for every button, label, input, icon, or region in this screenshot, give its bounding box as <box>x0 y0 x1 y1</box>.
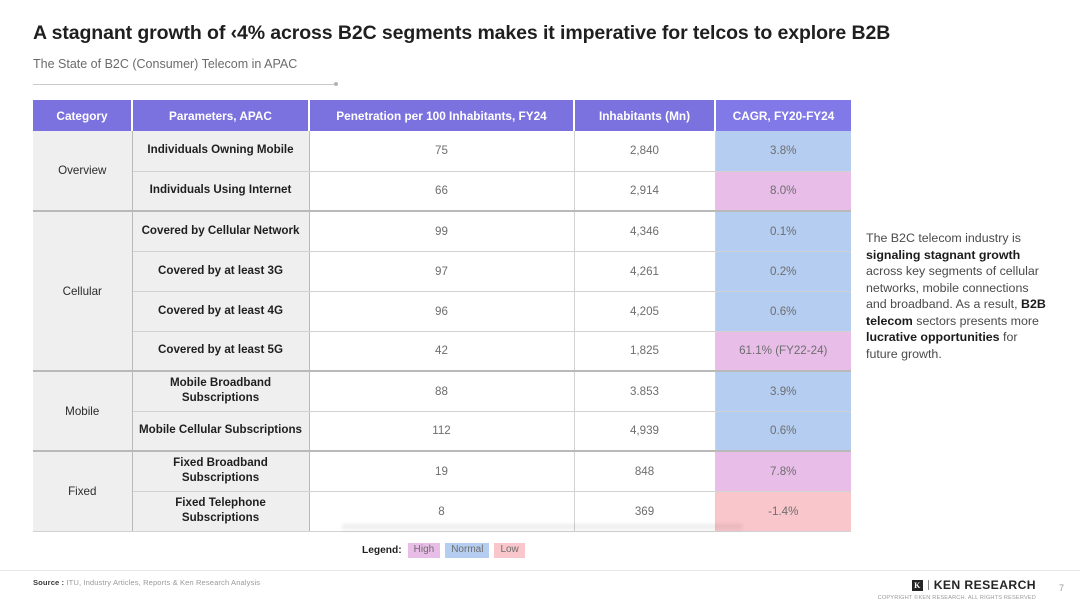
column-header-parameters: Parameters, APAC <box>132 100 309 131</box>
legend-label: Legend: <box>362 545 402 556</box>
category-cell-mobile: Mobile <box>33 371 132 451</box>
table-row: OverviewIndividuals Owning Mobile752,840… <box>33 131 851 171</box>
parameter-cell: Covered by at least 3G <box>132 251 309 291</box>
brand-divider <box>928 580 929 590</box>
brand-lockup: K KEN RESEARCH <box>878 578 1036 592</box>
category-cell-overview: Overview <box>33 131 132 211</box>
data-table-container: Category Parameters, APAC Penetration pe… <box>33 100 851 532</box>
parameter-cell: Covered by at least 5G <box>132 331 309 371</box>
table-row: CellularCovered by Cellular Network994,3… <box>33 211 851 251</box>
inhabitants-cell: 4,346 <box>574 211 715 251</box>
penetration-cell: 97 <box>309 251 574 291</box>
slide-header: A stagnant growth of ‹4% across B2C segm… <box>33 22 1047 71</box>
inhabitants-cell: 848 <box>574 451 715 491</box>
column-header-penetration: Penetration per 100 Inhabitants, FY24 <box>309 100 574 131</box>
table-header-row: Category Parameters, APAC Penetration pe… <box>33 100 851 131</box>
table-row: Covered by at least 4G964,2050.6% <box>33 291 851 331</box>
insight-text: The B2C telecom industry is <box>866 231 1021 245</box>
cagr-cell: 8.0% <box>715 171 851 211</box>
table-drop-shadow <box>342 524 742 533</box>
copyright-text: COPYRIGHT ©KEN RESEARCH. ALL RIGHTS RESE… <box>878 595 1036 601</box>
parameter-cell: Individuals Owning Mobile <box>132 131 309 171</box>
page-title: A stagnant growth of ‹4% across B2C segm… <box>33 22 1047 45</box>
cagr-cell: 61.1% (FY22-24) <box>715 331 851 371</box>
parameter-cell: Mobile Broadband Subscriptions <box>132 371 309 411</box>
cagr-cell: 0.6% <box>715 291 851 331</box>
cagr-cell: 0.2% <box>715 251 851 291</box>
table-row: FixedFixed Broadband Subscriptions198487… <box>33 451 851 491</box>
inhabitants-cell: 4,261 <box>574 251 715 291</box>
penetration-cell: 42 <box>309 331 574 371</box>
cagr-cell: 0.6% <box>715 411 851 451</box>
legend-item-normal: Normal <box>445 543 489 558</box>
legend-item-high: High <box>408 543 441 558</box>
penetration-cell: 66 <box>309 171 574 211</box>
parameter-cell: Fixed Telephone Subscriptions <box>132 491 309 531</box>
source-text: ITU, Industry Articles, Reports & Ken Re… <box>66 578 260 587</box>
insight-text: across key segments of cellular networks… <box>866 264 1039 311</box>
legend-item-low: Low <box>494 543 524 558</box>
brand-block: K KEN RESEARCH COPYRIGHT ©KEN RESEARCH. … <box>878 578 1036 601</box>
table-row: Individuals Using Internet662,9148.0% <box>33 171 851 211</box>
penetration-cell: 112 <box>309 411 574 451</box>
penetration-cell: 75 <box>309 131 574 171</box>
insight-emphasis: lucrative opportunities <box>866 330 1000 344</box>
penetration-cell: 96 <box>309 291 574 331</box>
penetration-cell: 99 <box>309 211 574 251</box>
table-row: Mobile Cellular Subscriptions1124,9390.6… <box>33 411 851 451</box>
telecom-metrics-table: Category Parameters, APAC Penetration pe… <box>33 100 851 532</box>
table-row: Covered by at least 3G974,2610.2% <box>33 251 851 291</box>
source-citation: Source : ITU, Industry Articles, Reports… <box>33 578 260 587</box>
inhabitants-cell: 1,825 <box>574 331 715 371</box>
column-header-cagr: CAGR, FY20-FY24 <box>715 100 851 131</box>
legend: Legend: High Normal Low <box>362 543 525 558</box>
parameter-cell: Mobile Cellular Subscriptions <box>132 411 309 451</box>
subtitle-divider-dot-icon <box>334 82 338 86</box>
cagr-cell: 3.8% <box>715 131 851 171</box>
insight-emphasis: signaling stagnant growth <box>866 248 1020 262</box>
column-header-category: Category <box>33 100 132 131</box>
parameter-cell: Covered by at least 4G <box>132 291 309 331</box>
table-header: Category Parameters, APAC Penetration pe… <box>33 100 851 131</box>
ken-research-logo-icon: K <box>912 580 923 591</box>
table-row: Covered by at least 5G421,82561.1% (FY22… <box>33 331 851 371</box>
footer-divider <box>0 570 1080 571</box>
page-number: 7 <box>1059 583 1064 593</box>
page-subtitle: The State of B2C (Consumer) Telecom in A… <box>33 57 1047 71</box>
subtitle-divider <box>33 84 336 85</box>
parameter-cell: Covered by Cellular Network <box>132 211 309 251</box>
column-header-inhabitants: Inhabitants (Mn) <box>574 100 715 131</box>
inhabitants-cell: 3.853 <box>574 371 715 411</box>
penetration-cell: 88 <box>309 371 574 411</box>
inhabitants-cell: 4,205 <box>574 291 715 331</box>
inhabitants-cell: 2,914 <box>574 171 715 211</box>
cagr-cell: 3.9% <box>715 371 851 411</box>
inhabitants-cell: 2,840 <box>574 131 715 171</box>
category-cell-cellular: Cellular <box>33 211 132 371</box>
category-cell-fixed: Fixed <box>33 451 132 531</box>
insight-text: sectors presents more <box>913 314 1039 328</box>
cagr-cell: 0.1% <box>715 211 851 251</box>
brand-name: KEN RESEARCH <box>934 578 1036 592</box>
table-body: OverviewIndividuals Owning Mobile752,840… <box>33 131 851 531</box>
table-row: MobileMobile Broadband Subscriptions883.… <box>33 371 851 411</box>
insight-note: The B2C telecom industry is signaling st… <box>866 230 1052 362</box>
penetration-cell: 19 <box>309 451 574 491</box>
parameter-cell: Individuals Using Internet <box>132 171 309 211</box>
parameter-cell: Fixed Broadband Subscriptions <box>132 451 309 491</box>
inhabitants-cell: 4,939 <box>574 411 715 451</box>
cagr-cell: 7.8% <box>715 451 851 491</box>
source-label: Source : <box>33 578 64 587</box>
